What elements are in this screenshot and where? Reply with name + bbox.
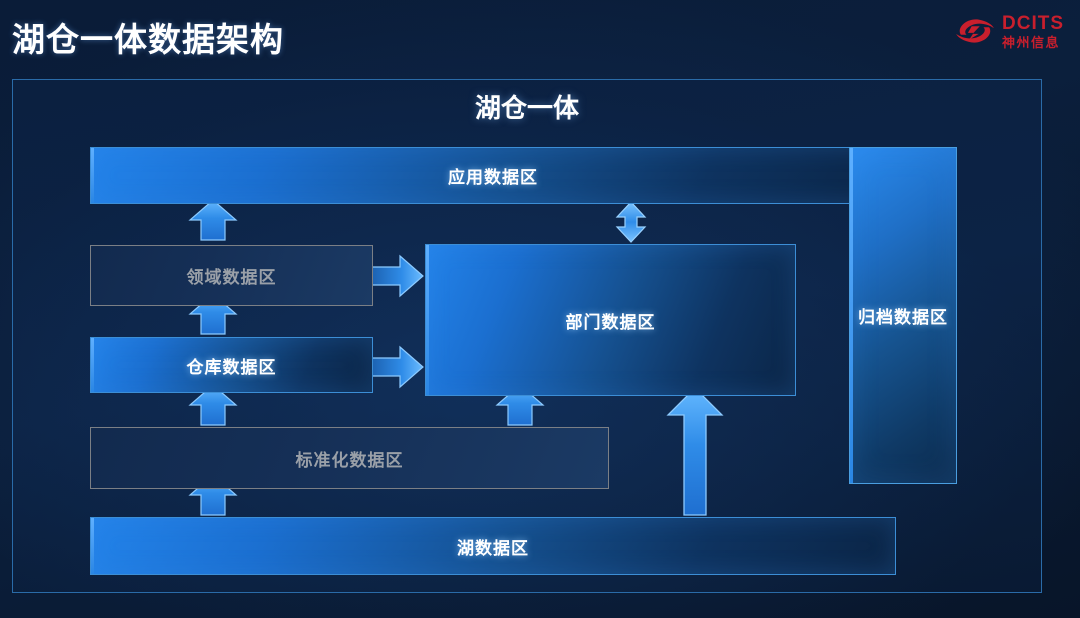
zone-archive[interactable]: 归档数据区 bbox=[849, 147, 957, 484]
arrow-warehouse-to-department bbox=[370, 347, 423, 387]
arrow-application-department-link bbox=[617, 202, 645, 242]
zone-application[interactable]: 应用数据区 bbox=[90, 147, 896, 204]
dcits-swirl-icon bbox=[954, 14, 996, 48]
slide-header: 湖仓一体数据架构 DCITS 神州信息 bbox=[0, 0, 1080, 64]
zone-warehouse-label: 仓库数据区 bbox=[187, 353, 277, 378]
zone-domain-label: 领域数据区 bbox=[187, 263, 277, 288]
arrow-domain-to-application bbox=[190, 200, 236, 240]
zone-lake[interactable]: 湖数据区 bbox=[90, 517, 896, 575]
zone-application-label: 应用数据区 bbox=[448, 163, 538, 188]
arrow-domain-to-department bbox=[370, 256, 423, 296]
logo-text-en: DCITS bbox=[1002, 14, 1064, 33]
page-title: 湖仓一体数据架构 bbox=[12, 13, 284, 61]
diagram-frame: 湖仓一体 bbox=[12, 79, 1042, 593]
slide-canvas: 湖仓一体数据架构 DCITS 神州信息 湖仓一体 bbox=[0, 0, 1080, 618]
zone-archive-label: 归档数据区 bbox=[858, 303, 948, 328]
zone-department-label: 部门数据区 bbox=[566, 308, 656, 333]
zone-lake-label: 湖数据区 bbox=[457, 534, 529, 559]
brand-logo: DCITS 神州信息 bbox=[954, 8, 1064, 54]
arrow-lake-to-department bbox=[668, 388, 722, 515]
logo-text-cn: 神州信息 bbox=[1002, 36, 1064, 49]
zone-standardized-label: 标准化数据区 bbox=[296, 446, 404, 471]
zone-standardized[interactable]: 标准化数据区 bbox=[90, 427, 609, 489]
zone-domain[interactable]: 领域数据区 bbox=[90, 245, 373, 306]
zone-department[interactable]: 部门数据区 bbox=[425, 244, 796, 396]
zone-warehouse[interactable]: 仓库数据区 bbox=[90, 337, 373, 393]
diagram-title: 湖仓一体 bbox=[13, 88, 1041, 125]
